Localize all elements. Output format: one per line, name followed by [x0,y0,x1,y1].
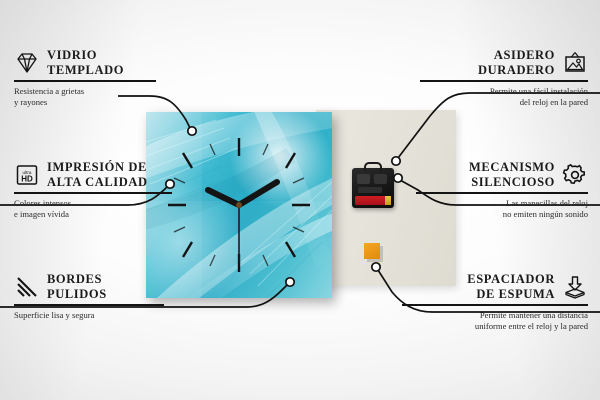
feature-desc-line1: Las manecillas del reloj [416,198,588,209]
picture-hanger-icon [562,51,588,75]
feature-title-line1: MECANISMO [469,160,555,175]
feature-title-line2: DURADERO [478,63,555,78]
feature-impresion-alta-calidad: ultra HD IMPRESIÓN DE ALTA CALIDAD Color… [14,160,189,220]
feature-mecanismo-silencioso: MECANISMO SILENCIOSO Las manecillas del … [416,160,588,220]
feature-desc-line2: no emiten ningún sonido [416,209,588,220]
feature-description: Colores intensos e imagen vívida [14,198,189,220]
svg-text:HD: HD [21,174,33,183]
feature-title-line2: ALTA CALIDAD [47,175,148,190]
foam-spacer-icon [562,275,588,299]
feature-title-line1: ESPACIADOR [467,272,555,287]
feature-rule [14,304,164,306]
feature-desc-line1: Permite una fácil instalación [420,86,588,97]
feature-rule [14,80,156,82]
infographic-canvas: VIDRIO TEMPLADO Resistencia a grietas y … [0,0,600,400]
feature-desc-line1: Colores intensos [14,198,189,209]
feature-desc-line2: uniforme entre el reloj y la pared [402,321,588,332]
feature-rule [14,192,172,194]
feature-title-line2: PULIDOS [47,287,107,302]
feature-title-line1: VIDRIO [47,48,124,63]
feature-title-line2: SILENCIOSO [469,175,555,190]
connector-dot-bordes [286,278,294,286]
connector-dot-asidero [392,157,400,165]
feature-desc-line1: Permite mantener una distancia [402,310,588,321]
feature-desc-line1: Resistencia a grietas [14,86,174,97]
feature-title-line2: DE ESPUMA [467,287,555,302]
feature-bordes-pulidos: BORDES PULIDOS Superficie lisa y segura [14,272,179,321]
feature-espaciador-de-espuma: ESPACIADOR DE ESPUMA Permite mantener un… [402,272,588,332]
feature-desc-line2: y rayones [14,97,174,108]
feature-vidrio-templado: VIDRIO TEMPLADO Resistencia a grietas y … [14,48,174,108]
feature-desc-line2: del reloj en la pared [420,97,588,108]
feature-title-line1: BORDES [47,272,107,287]
feature-description: Permite mantener una distancia uniforme … [402,310,588,332]
feature-rule [420,80,588,82]
ultra-hd-icon: ultra HD [14,163,40,187]
polished-edges-icon [14,275,40,299]
feature-title-line1: ASIDERO [478,48,555,63]
gear-icon [562,163,588,187]
connector-dot-mecanismo [394,174,402,182]
feature-desc-line1: Superficie lisa y segura [14,310,179,321]
feature-desc-line2: e imagen vívida [14,209,189,220]
feature-title-line1: IMPRESIÓN DE [47,160,148,175]
feature-asidero-duradero: ASIDERO DURADERO Permite una fácil insta… [420,48,588,108]
feature-description: Las manecillas del reloj no emiten ningú… [416,198,588,220]
connector-dot-vidrio [188,127,196,135]
feature-rule [402,304,588,306]
feature-description: Permite una fácil instalación del reloj … [420,86,588,108]
feature-title-line2: TEMPLADO [47,63,124,78]
feature-description: Superficie lisa y segura [14,310,179,321]
feature-rule [416,192,588,194]
feature-description: Resistencia a grietas y rayones [14,86,174,108]
diamond-icon [14,51,40,75]
connector-dot-espaciador [372,263,380,271]
